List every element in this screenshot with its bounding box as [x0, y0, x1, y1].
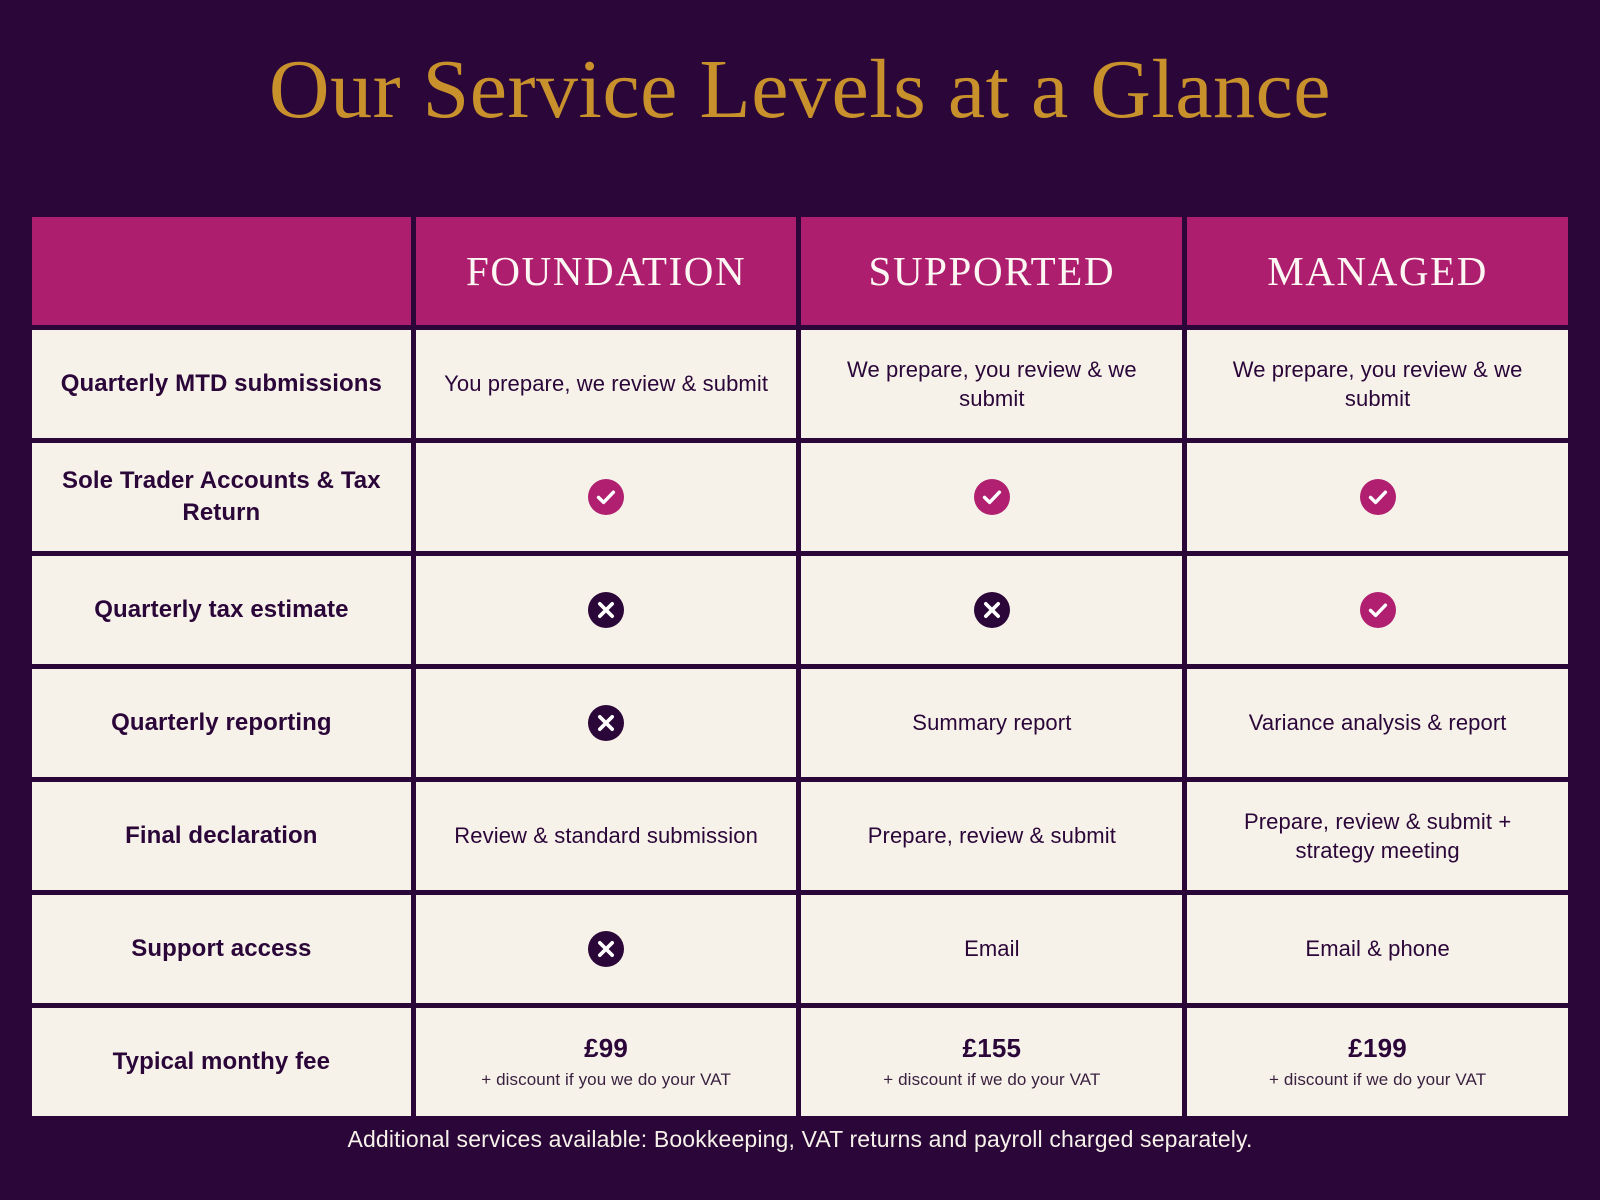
column-header-foundation: FOUNDATION [416, 217, 797, 325]
check-circle-icon [974, 479, 1010, 515]
value-cell-managed: Variance analysis & report [1187, 669, 1568, 777]
value-text: Review & standard submission [432, 821, 781, 850]
value-text: We prepare, you review & we submit [1203, 355, 1552, 414]
cross-circle-icon [588, 931, 624, 967]
service-levels-comparison-page: Our Service Levels at a Glance FOUNDATIO… [0, 0, 1600, 1200]
value-cell-managed: Prepare, review & submit + strategy meet… [1187, 782, 1568, 890]
feature-cell: Sole Trader Accounts & Tax Return [32, 443, 411, 551]
value-cell-supported [801, 556, 1182, 664]
value-cell-supported: Email [801, 895, 1182, 1003]
value-text: We prepare, you review & we submit [817, 355, 1166, 414]
value-cell-supported: Summary report [801, 669, 1182, 777]
price-note: + discount if you we do your VAT [432, 1068, 781, 1092]
table-header: FOUNDATION SUPPORTED MANAGED [32, 217, 1568, 325]
value-cell-managed: We prepare, you review & we submit [1187, 330, 1568, 438]
price-value: £99 [432, 1032, 781, 1065]
table-row: Typical monthy fee£99+ discount if you w… [32, 1008, 1568, 1116]
column-header-feature [32, 217, 411, 325]
feature-label: Quarterly MTD submissions [48, 368, 395, 400]
value-cell-foundation [416, 443, 797, 551]
price-value: £199 [1203, 1032, 1552, 1065]
feature-label: Typical monthy fee [48, 1046, 395, 1078]
feature-label: Sole Trader Accounts & Tax Return [48, 465, 395, 528]
footer-note: Additional services available: Bookkeepi… [0, 1126, 1600, 1153]
value-text: Summary report [817, 708, 1166, 737]
value-cell-managed [1187, 443, 1568, 551]
feature-label: Quarterly tax estimate [48, 594, 395, 626]
table-row: Quarterly tax estimate [32, 556, 1568, 664]
comparison-table-wrapper: FOUNDATION SUPPORTED MANAGED Quarterly M… [27, 212, 1573, 1121]
column-header-managed: MANAGED [1187, 217, 1568, 325]
column-header-supported: SUPPORTED [801, 217, 1182, 325]
table-body: Quarterly MTD submissionsYou prepare, we… [32, 330, 1568, 1116]
price-note: + discount if we do your VAT [817, 1068, 1166, 1092]
cross-circle-icon [588, 592, 624, 628]
table-row: Final declarationReview & standard submi… [32, 782, 1568, 890]
check-circle-icon [588, 479, 624, 515]
table-row: Quarterly MTD submissionsYou prepare, we… [32, 330, 1568, 438]
value-cell-supported: Prepare, review & submit [801, 782, 1182, 890]
check-circle-icon [1360, 592, 1396, 628]
price-value: £155 [817, 1032, 1166, 1065]
value-cell-foundation: You prepare, we review & submit [416, 330, 797, 438]
feature-label: Quarterly reporting [48, 707, 395, 739]
cross-circle-icon [974, 592, 1010, 628]
feature-cell: Typical monthy fee [32, 1008, 411, 1116]
feature-label: Support access [48, 933, 395, 965]
feature-cell: Quarterly tax estimate [32, 556, 411, 664]
table-row: Quarterly reportingSummary reportVarianc… [32, 669, 1568, 777]
value-cell-managed: £199+ discount if we do your VAT [1187, 1008, 1568, 1116]
feature-label: Final declaration [48, 820, 395, 852]
feature-cell: Quarterly MTD submissions [32, 330, 411, 438]
value-cell-supported: £155+ discount if we do your VAT [801, 1008, 1182, 1116]
feature-cell: Quarterly reporting [32, 669, 411, 777]
feature-cell: Final declaration [32, 782, 411, 890]
value-cell-managed [1187, 556, 1568, 664]
table-row: Support accessEmailEmail & phone [32, 895, 1568, 1003]
feature-cell: Support access [32, 895, 411, 1003]
value-cell-foundation: Review & standard submission [416, 782, 797, 890]
value-text: Email [817, 934, 1166, 963]
table-header-row: FOUNDATION SUPPORTED MANAGED [32, 217, 1568, 325]
value-text: You prepare, we review & submit [432, 369, 781, 398]
value-cell-foundation [416, 895, 797, 1003]
value-cell-managed: Email & phone [1187, 895, 1568, 1003]
value-text: Variance analysis & report [1203, 708, 1552, 737]
value-text: Prepare, review & submit + strategy meet… [1203, 807, 1552, 866]
value-cell-foundation [416, 556, 797, 664]
value-cell-foundation [416, 669, 797, 777]
service-levels-table: FOUNDATION SUPPORTED MANAGED Quarterly M… [27, 212, 1573, 1121]
page-title: Our Service Levels at a Glance [0, 0, 1600, 142]
check-circle-icon [1360, 479, 1396, 515]
value-cell-supported: We prepare, you review & we submit [801, 330, 1182, 438]
table-row: Sole Trader Accounts & Tax Return [32, 443, 1568, 551]
value-cell-foundation: £99+ discount if you we do your VAT [416, 1008, 797, 1116]
value-cell-supported [801, 443, 1182, 551]
value-text: Prepare, review & submit [817, 821, 1166, 850]
price-note: + discount if we do your VAT [1203, 1068, 1552, 1092]
cross-circle-icon [588, 705, 624, 741]
value-text: Email & phone [1203, 934, 1552, 963]
